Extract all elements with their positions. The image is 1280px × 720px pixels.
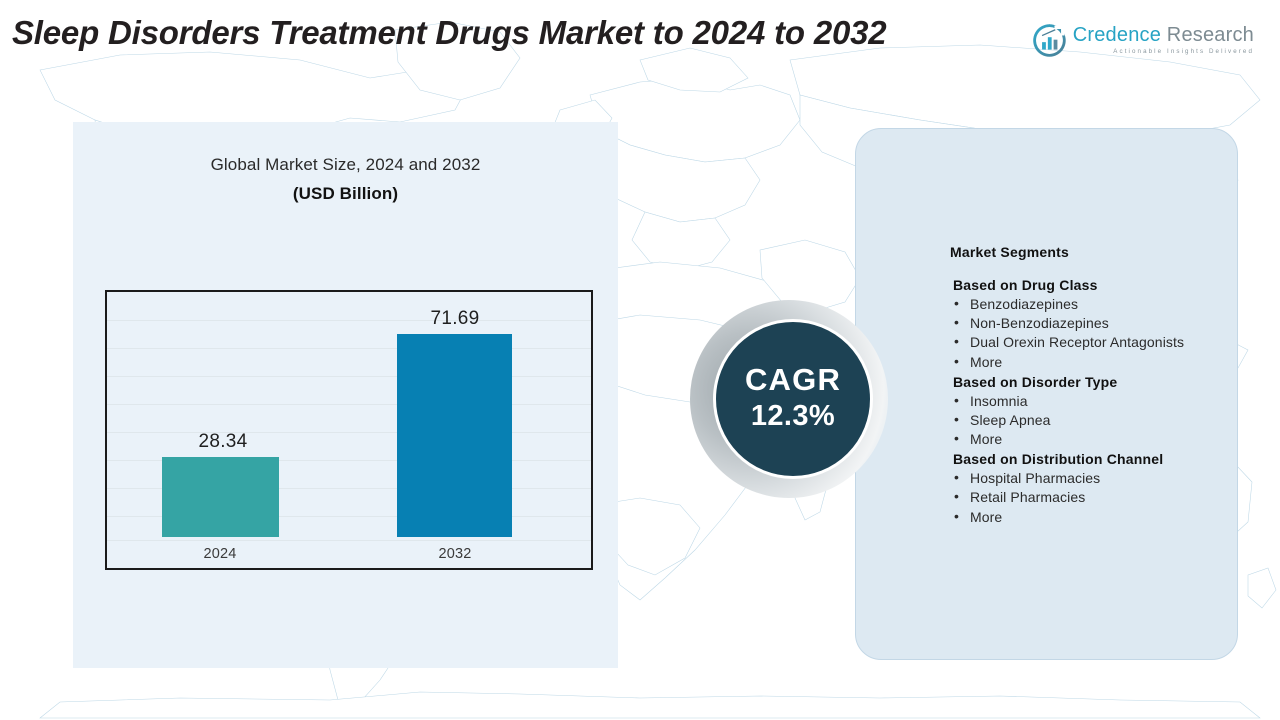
cagr-label: CAGR — [745, 364, 841, 397]
cagr-badge: CAGR 12.3% — [713, 319, 873, 479]
list-item: Dual Orexin Receptor Antagonists — [950, 333, 1250, 352]
segment-item-list: Insomnia Sleep Apnea More — [950, 392, 1250, 450]
list-item: Benzodiazepines — [950, 295, 1250, 314]
list-item: More — [950, 430, 1250, 449]
bar-value-2024: 28.34 — [143, 431, 303, 453]
list-item: Sleep Apnea — [950, 411, 1250, 430]
segment-group-disorder-type: Based on Disorder Type Insomnia Sleep Ap… — [950, 374, 1250, 450]
brand-logo: Credence Research Actionable Insights De… — [1033, 24, 1254, 57]
chart-gridlines: 28.34 71.69 2024 2032 — [107, 292, 591, 568]
market-segments-content: Market Segments Based on Drug Class Benz… — [950, 244, 1250, 529]
x-axis-label-2032: 2032 — [390, 546, 520, 562]
segment-item-list: Hospital Pharmacies Retail Pharmacies Mo… — [950, 469, 1250, 527]
bar-2032 — [397, 334, 512, 537]
brand-name-primary: Credence — [1073, 24, 1161, 46]
segment-group-drug-class: Based on Drug Class Benzodiazepines Non-… — [950, 277, 1250, 372]
list-item: Insomnia — [950, 392, 1250, 411]
list-item: Non-Benzodiazepines — [950, 314, 1250, 333]
segment-group-title: Based on Distribution Channel — [953, 451, 1250, 467]
market-segments-heading: Market Segments — [950, 244, 1250, 260]
bar-value-2032: 71.69 — [375, 308, 535, 330]
brand-tagline: Actionable Insights Delivered — [1073, 49, 1254, 55]
segment-group-distribution-channel: Based on Distribution Channel Hospital P… — [950, 451, 1250, 527]
list-item: More — [950, 353, 1250, 372]
brand-logo-text: Credence Research Actionable Insights De… — [1073, 25, 1254, 55]
x-axis-label-2024: 2024 — [155, 546, 285, 562]
chart-title: Global Market Size, 2024 and 2032 — [73, 155, 618, 175]
list-item: Hospital Pharmacies — [950, 469, 1250, 488]
bar-2024 — [162, 457, 279, 537]
brand-name: Credence Research — [1073, 25, 1254, 45]
chart-plot-area: 28.34 71.69 2024 2032 — [105, 290, 593, 570]
segment-item-list: Benzodiazepines Non-Benzodiazepines Dual… — [950, 295, 1250, 372]
list-item: More — [950, 508, 1250, 527]
segment-group-title: Based on Disorder Type — [953, 374, 1250, 390]
page-title: Sleep Disorders Treatment Drugs Market t… — [12, 12, 1052, 54]
chart-subtitle: (USD Billion) — [73, 184, 618, 204]
bar-chart-circle-icon — [1033, 24, 1066, 57]
segment-group-title: Based on Drug Class — [953, 277, 1250, 293]
list-item: Retail Pharmacies — [950, 488, 1250, 507]
page-header: Sleep Disorders Treatment Drugs Market t… — [0, 0, 1280, 110]
cagr-value: 12.3% — [751, 399, 835, 434]
market-size-bar-chart: Global Market Size, 2024 and 2032 (USD B… — [73, 122, 618, 668]
brand-name-secondary: Research — [1161, 24, 1254, 46]
